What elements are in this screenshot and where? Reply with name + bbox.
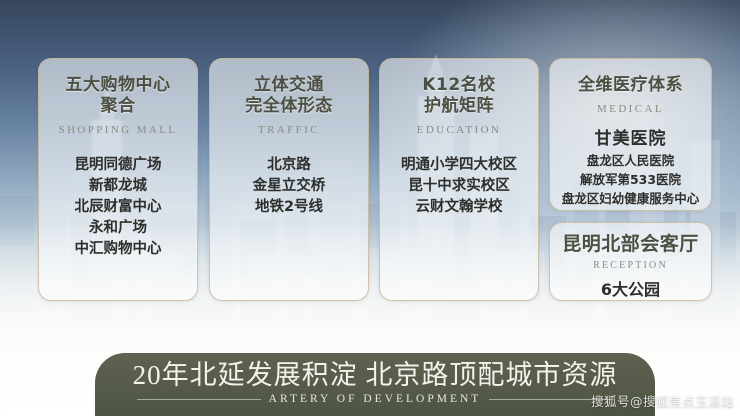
list-item: 明通小学四大校区	[380, 155, 538, 176]
feature-card-shopping[interactable]: 五大购物中心 聚合 SHOPPING MALL 昆明同德广场 新都龙城 北辰财富…	[38, 58, 198, 301]
card-list-traffic: 北京路 金星立交桥 地铁2号线	[210, 155, 368, 218]
list-item: 金星立交桥	[210, 176, 368, 197]
bottom-banner: 20年北延发展积淀 北京路顶配城市资源 ARTERY OF DEVELOPMEN…	[95, 353, 655, 416]
card-list-reception: 6大公园	[550, 279, 711, 300]
banner-rule-left	[137, 399, 261, 400]
card-title-medical: 全维医疗体系	[554, 75, 707, 96]
card-subtitle-medical: MEDICAL	[550, 103, 711, 115]
card-title-shopping: 五大购物中心 聚合	[43, 75, 193, 117]
list-item: 永和广场	[39, 218, 197, 239]
card-subtitle-reception: RECEPTION	[550, 260, 711, 271]
list-item: 6大公园	[550, 279, 711, 300]
card-list-shopping: 昆明同德广场 新都龙城 北辰财富中心 永和广场 中汇购物中心	[39, 155, 197, 260]
list-item-lead: 甘美医院	[550, 127, 711, 151]
banner-headline: 20年北延发展积淀 北京路顶配城市资源	[95, 360, 655, 391]
card-title-education: K12名校 护航矩阵	[384, 75, 534, 117]
list-item: 新都龙城	[39, 176, 197, 197]
list-item: 昆十中求实校区	[380, 176, 538, 197]
card-subtitle-shopping: SHOPPING MALL	[39, 124, 197, 136]
list-item: 中汇购物中心	[39, 239, 197, 260]
list-item: 北京路	[210, 155, 368, 176]
banner-subline-row: ARTERY OF DEVELOPMENT	[95, 393, 655, 405]
banner-subline: ARTERY OF DEVELOPMENT	[261, 393, 490, 405]
list-item: 盘龙区人民医院	[550, 151, 711, 170]
card-title-traffic: 立体交通 完全体形态	[214, 75, 364, 117]
card-subtitle-traffic: TRAFFIC	[210, 124, 368, 136]
list-item: 地铁2号线	[210, 197, 368, 218]
list-item: 解放军第533医院	[550, 170, 711, 189]
watermark-label: 搜狐号@搜狐焦点玉溪站	[591, 391, 734, 410]
list-item: 北辰财富中心	[39, 197, 197, 218]
list-item: 盘龙区妇幼健康服务中心	[550, 189, 711, 208]
list-item: 昆明同德广场	[39, 155, 197, 176]
card-list-medical: 甘美医院 盘龙区人民医院 解放军第533医院 盘龙区妇幼健康服务中心	[550, 127, 711, 208]
list-item: 云财文翰学校	[380, 197, 538, 218]
card-list-education: 明通小学四大校区 昆十中求实校区 云财文翰学校	[380, 155, 538, 218]
feature-card-traffic[interactable]: 立体交通 完全体形态 TRAFFIC 北京路 金星立交桥 地铁2号线	[209, 58, 369, 301]
card-subtitle-education: EDUCATION	[380, 124, 538, 136]
feature-card-reception[interactable]: 昆明北部会客厅 RECEPTION 6大公园	[549, 222, 712, 301]
feature-card-education[interactable]: K12名校 护航矩阵 EDUCATION 明通小学四大校区 昆十中求实校区 云财…	[379, 58, 539, 301]
slide-canvas: 五大购物中心 聚合 SHOPPING MALL 昆明同德广场 新都龙城 北辰财富…	[0, 0, 740, 416]
card-title-reception: 昆明北部会客厅	[554, 233, 707, 256]
feature-card-medical[interactable]: 全维医疗体系 MEDICAL 甘美医院 盘龙区人民医院 解放军第533医院 盘龙…	[549, 58, 712, 211]
